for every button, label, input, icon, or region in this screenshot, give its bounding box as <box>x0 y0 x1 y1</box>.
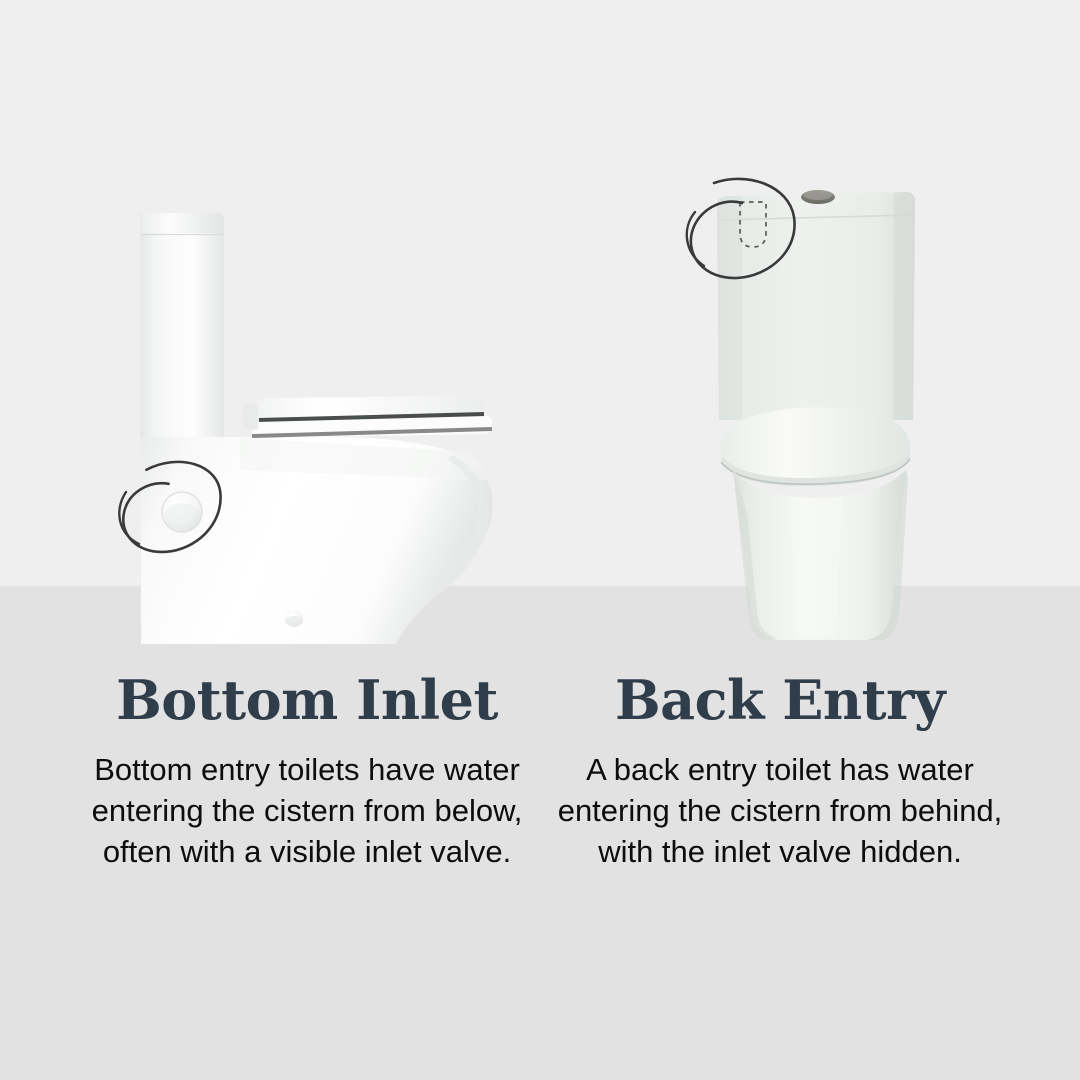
annotation-circle-right-tail <box>687 212 704 266</box>
bowl-left <box>141 437 493 644</box>
heading-back-entry: Back Entry <box>545 672 1015 729</box>
column-bottom-inlet: Bottom Inlet Bottom entry toilets have w… <box>72 672 542 872</box>
column-back-entry: Back Entry A back entry toilet has water… <box>545 672 1015 872</box>
body-bottom-inlet: Bottom entry toilets have water entering… <box>72 749 542 873</box>
infographic-canvas: Bottom Inlet Bottom entry toilets have w… <box>0 0 1080 1080</box>
cistern-left <box>141 213 224 437</box>
cistern-right <box>717 192 915 420</box>
seat-lid-left <box>242 396 492 438</box>
seat-lid-right <box>720 407 911 486</box>
illustration-stage <box>0 0 1080 660</box>
toilet-illustration-back-entry <box>687 179 915 640</box>
bowl-right <box>733 470 908 640</box>
toilet-illustration-bottom-inlet <box>116 213 493 644</box>
flush-button-right <box>801 190 835 204</box>
inlet-valve-cap <box>162 492 202 532</box>
heading-bottom-inlet: Bottom Inlet <box>72 672 542 729</box>
body-back-entry: A back entry toilet has water entering t… <box>545 749 1015 873</box>
